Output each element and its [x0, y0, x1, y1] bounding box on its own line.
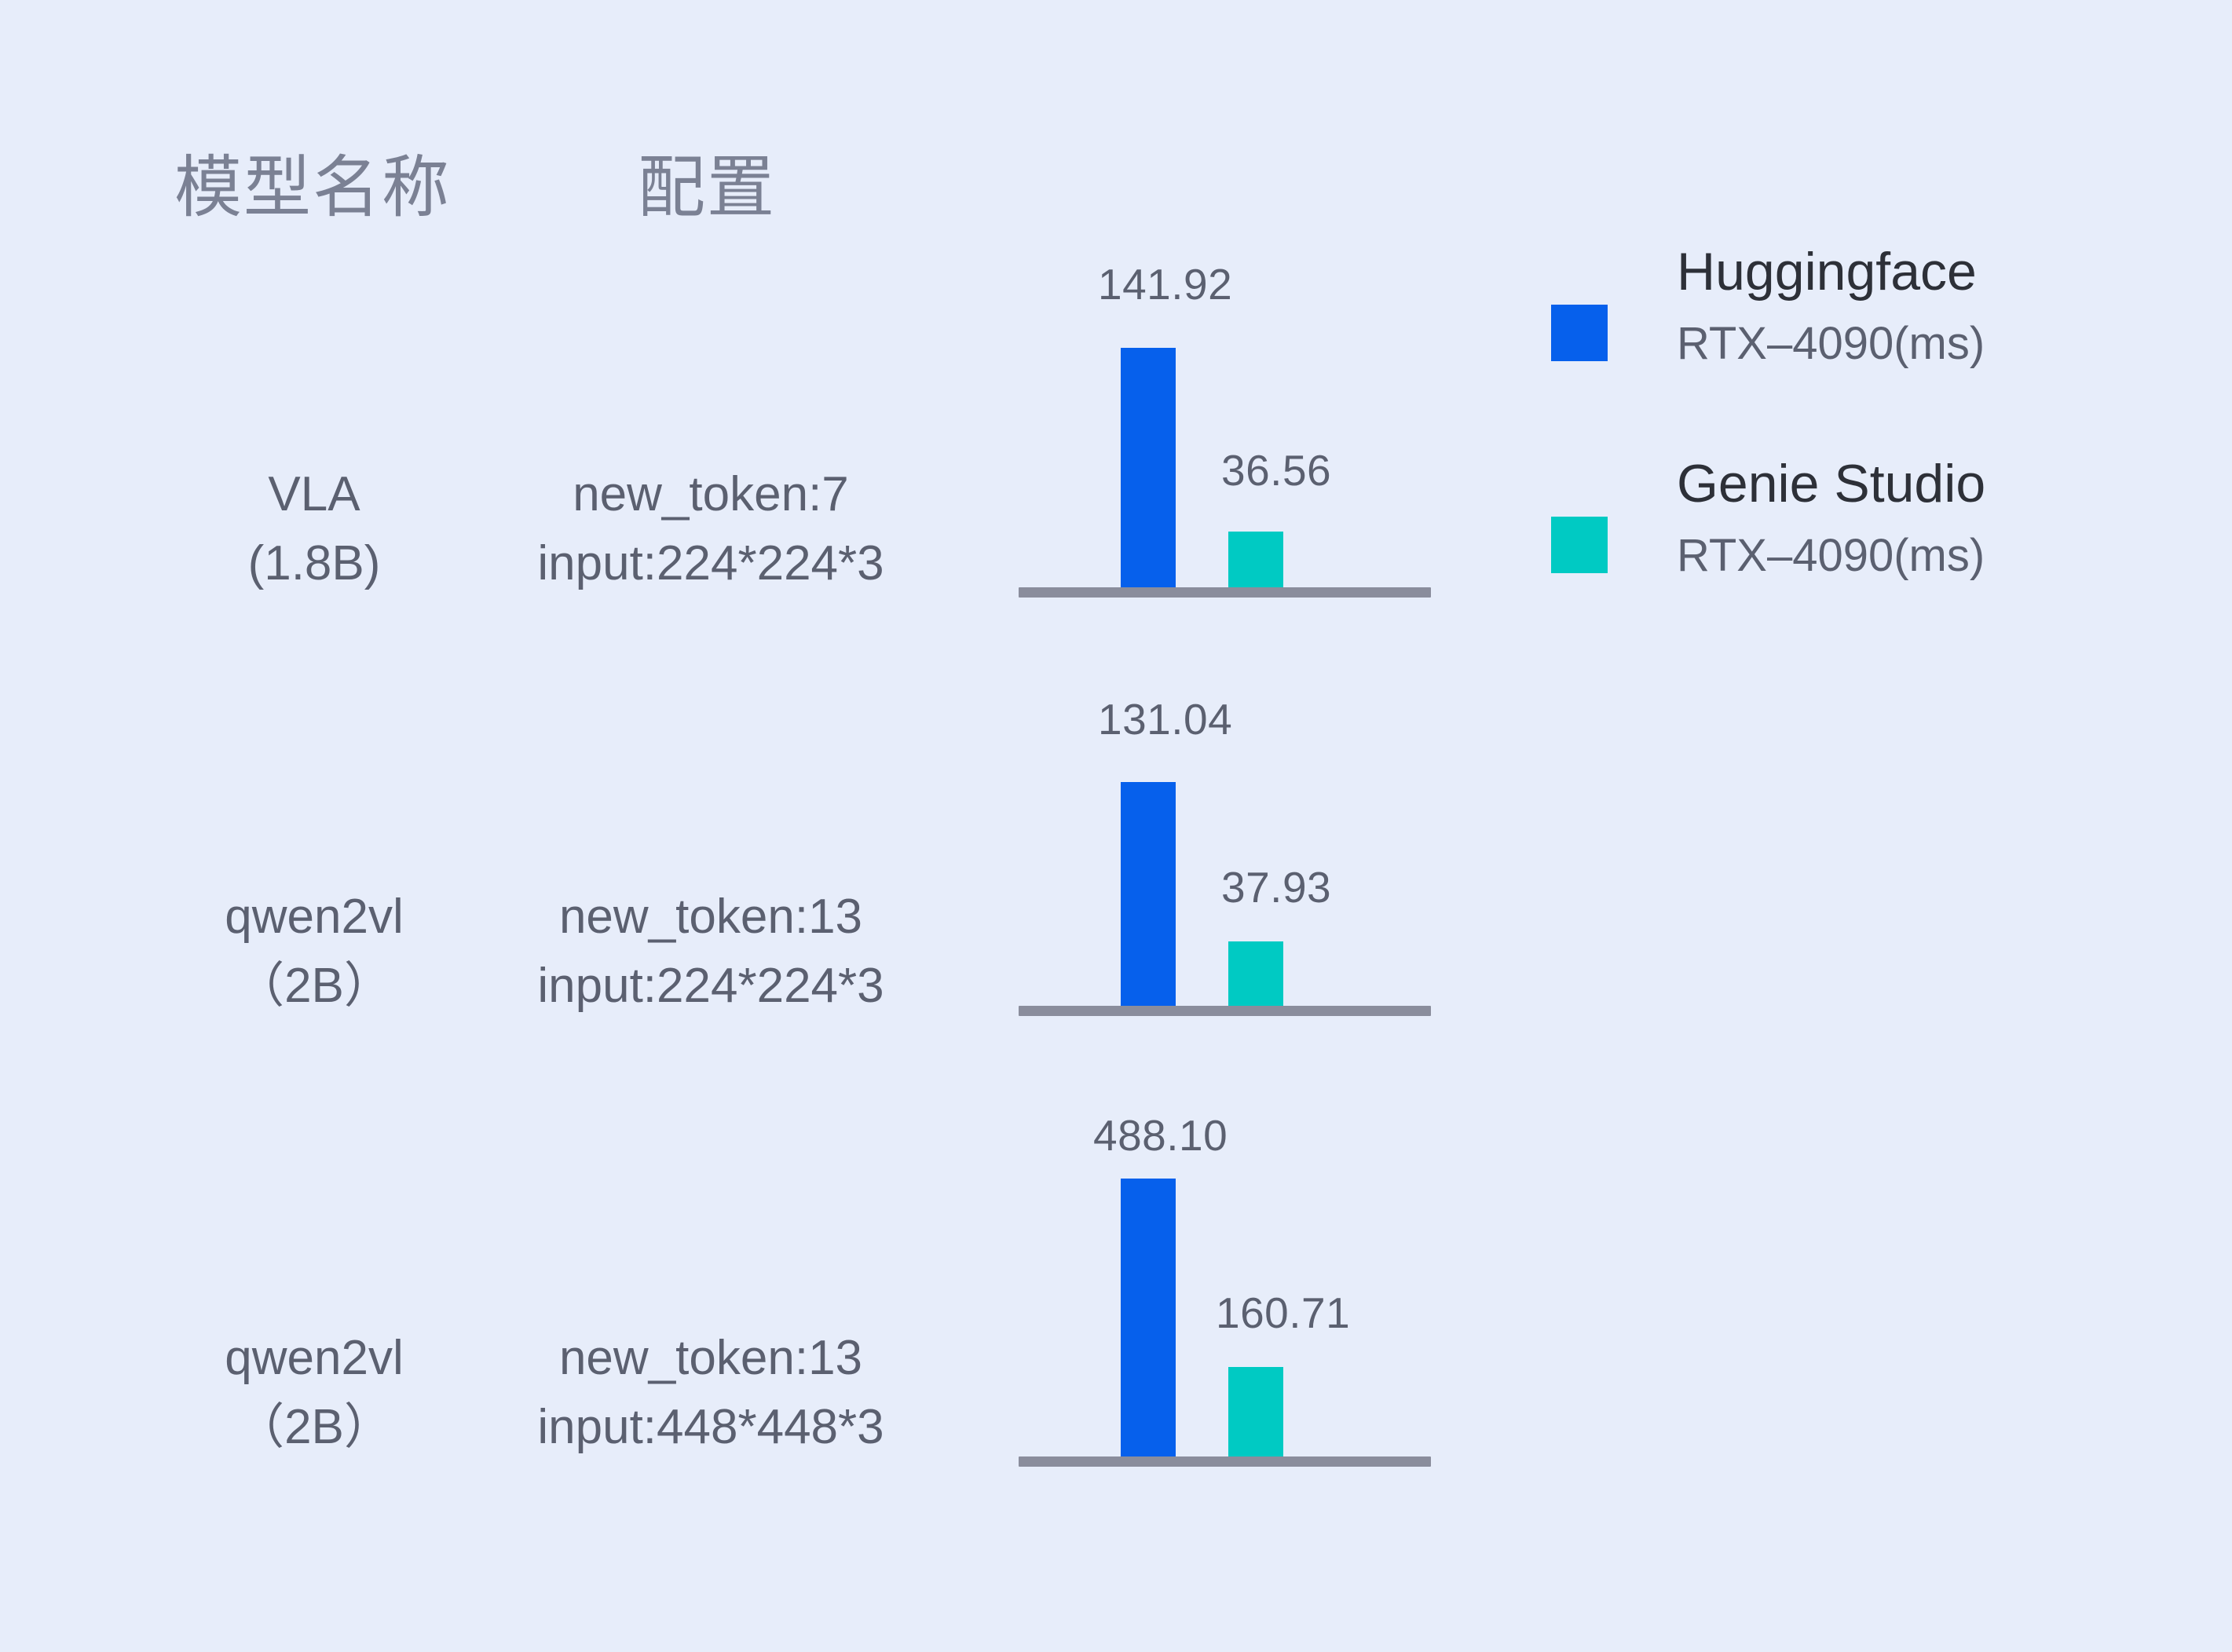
bar-value-genie-studio: 160.71 — [1216, 1288, 1350, 1338]
legend-label-huggingface: Huggingface RTX–4090(ms) — [1677, 236, 2085, 380]
row-model-name: VLA — [268, 467, 360, 521]
row-config-label: new_token:13 input:448*448*3 — [436, 1324, 986, 1462]
row-config-tokens: new_token:7 — [573, 467, 849, 521]
row-config-input: input:224*224*3 — [436, 952, 986, 1021]
bar-huggingface — [1121, 782, 1176, 1006]
bar-huggingface — [1121, 348, 1176, 587]
row-config-label: new_token:13 input:224*224*3 — [436, 883, 986, 1021]
legend-series-unit: RTX–4090(ms) — [1677, 308, 2085, 380]
panel-baseline — [1019, 587, 1431, 598]
legend-series-name: Genie Studio — [1677, 448, 2085, 520]
legend-swatch-teal-icon — [1551, 517, 1608, 573]
legend-series-name: Huggingface — [1677, 236, 2085, 308]
chart-legend: Huggingface RTX–4090(ms) Genie Studio RT… — [1551, 236, 2101, 660]
row-model-name: qwen2vl — [225, 890, 403, 944]
panel-baseline — [1019, 1006, 1431, 1016]
bar-huggingface — [1121, 1179, 1176, 1463]
bar-genie-studio — [1228, 941, 1283, 1006]
row-config-label: new_token:7 input:224*224*3 — [436, 460, 986, 598]
row-config-input: input:224*224*3 — [436, 529, 986, 598]
legend-label-genie-studio: Genie Studio RTX–4090(ms) — [1677, 448, 2085, 592]
bar-value-genie-studio: 37.93 — [1221, 862, 1331, 912]
bar-genie-studio — [1228, 1367, 1283, 1456]
row-config-tokens: new_token:13 — [559, 890, 862, 944]
row-config-input: input:448*448*3 — [436, 1393, 986, 1462]
row-model-name: qwen2vl — [225, 1331, 403, 1385]
bar-value-huggingface: 131.04 — [1098, 694, 1232, 744]
column-header-config: 配置 — [638, 132, 776, 230]
bar-value-huggingface: 488.10 — [1093, 1110, 1228, 1160]
chart-canvas: 模型名称 配置 VLA (1.8B) new_token:7 input:224… — [0, 0, 2232, 1652]
legend-item-genie-studio[interactable]: Genie Studio RTX–4090(ms) — [1551, 448, 2101, 660]
legend-swatch-blue-icon — [1551, 305, 1608, 361]
column-header-model-name: 模型名称 — [174, 132, 451, 230]
bar-value-genie-studio: 36.56 — [1221, 445, 1331, 495]
legend-item-huggingface[interactable]: Huggingface RTX–4090(ms) — [1551, 236, 2101, 448]
bar-genie-studio — [1228, 532, 1283, 587]
bar-value-huggingface: 141.92 — [1098, 259, 1232, 309]
panel-baseline — [1019, 1456, 1431, 1467]
row-config-tokens: new_token:13 — [559, 1331, 862, 1385]
legend-series-unit: RTX–4090(ms) — [1677, 520, 2085, 592]
